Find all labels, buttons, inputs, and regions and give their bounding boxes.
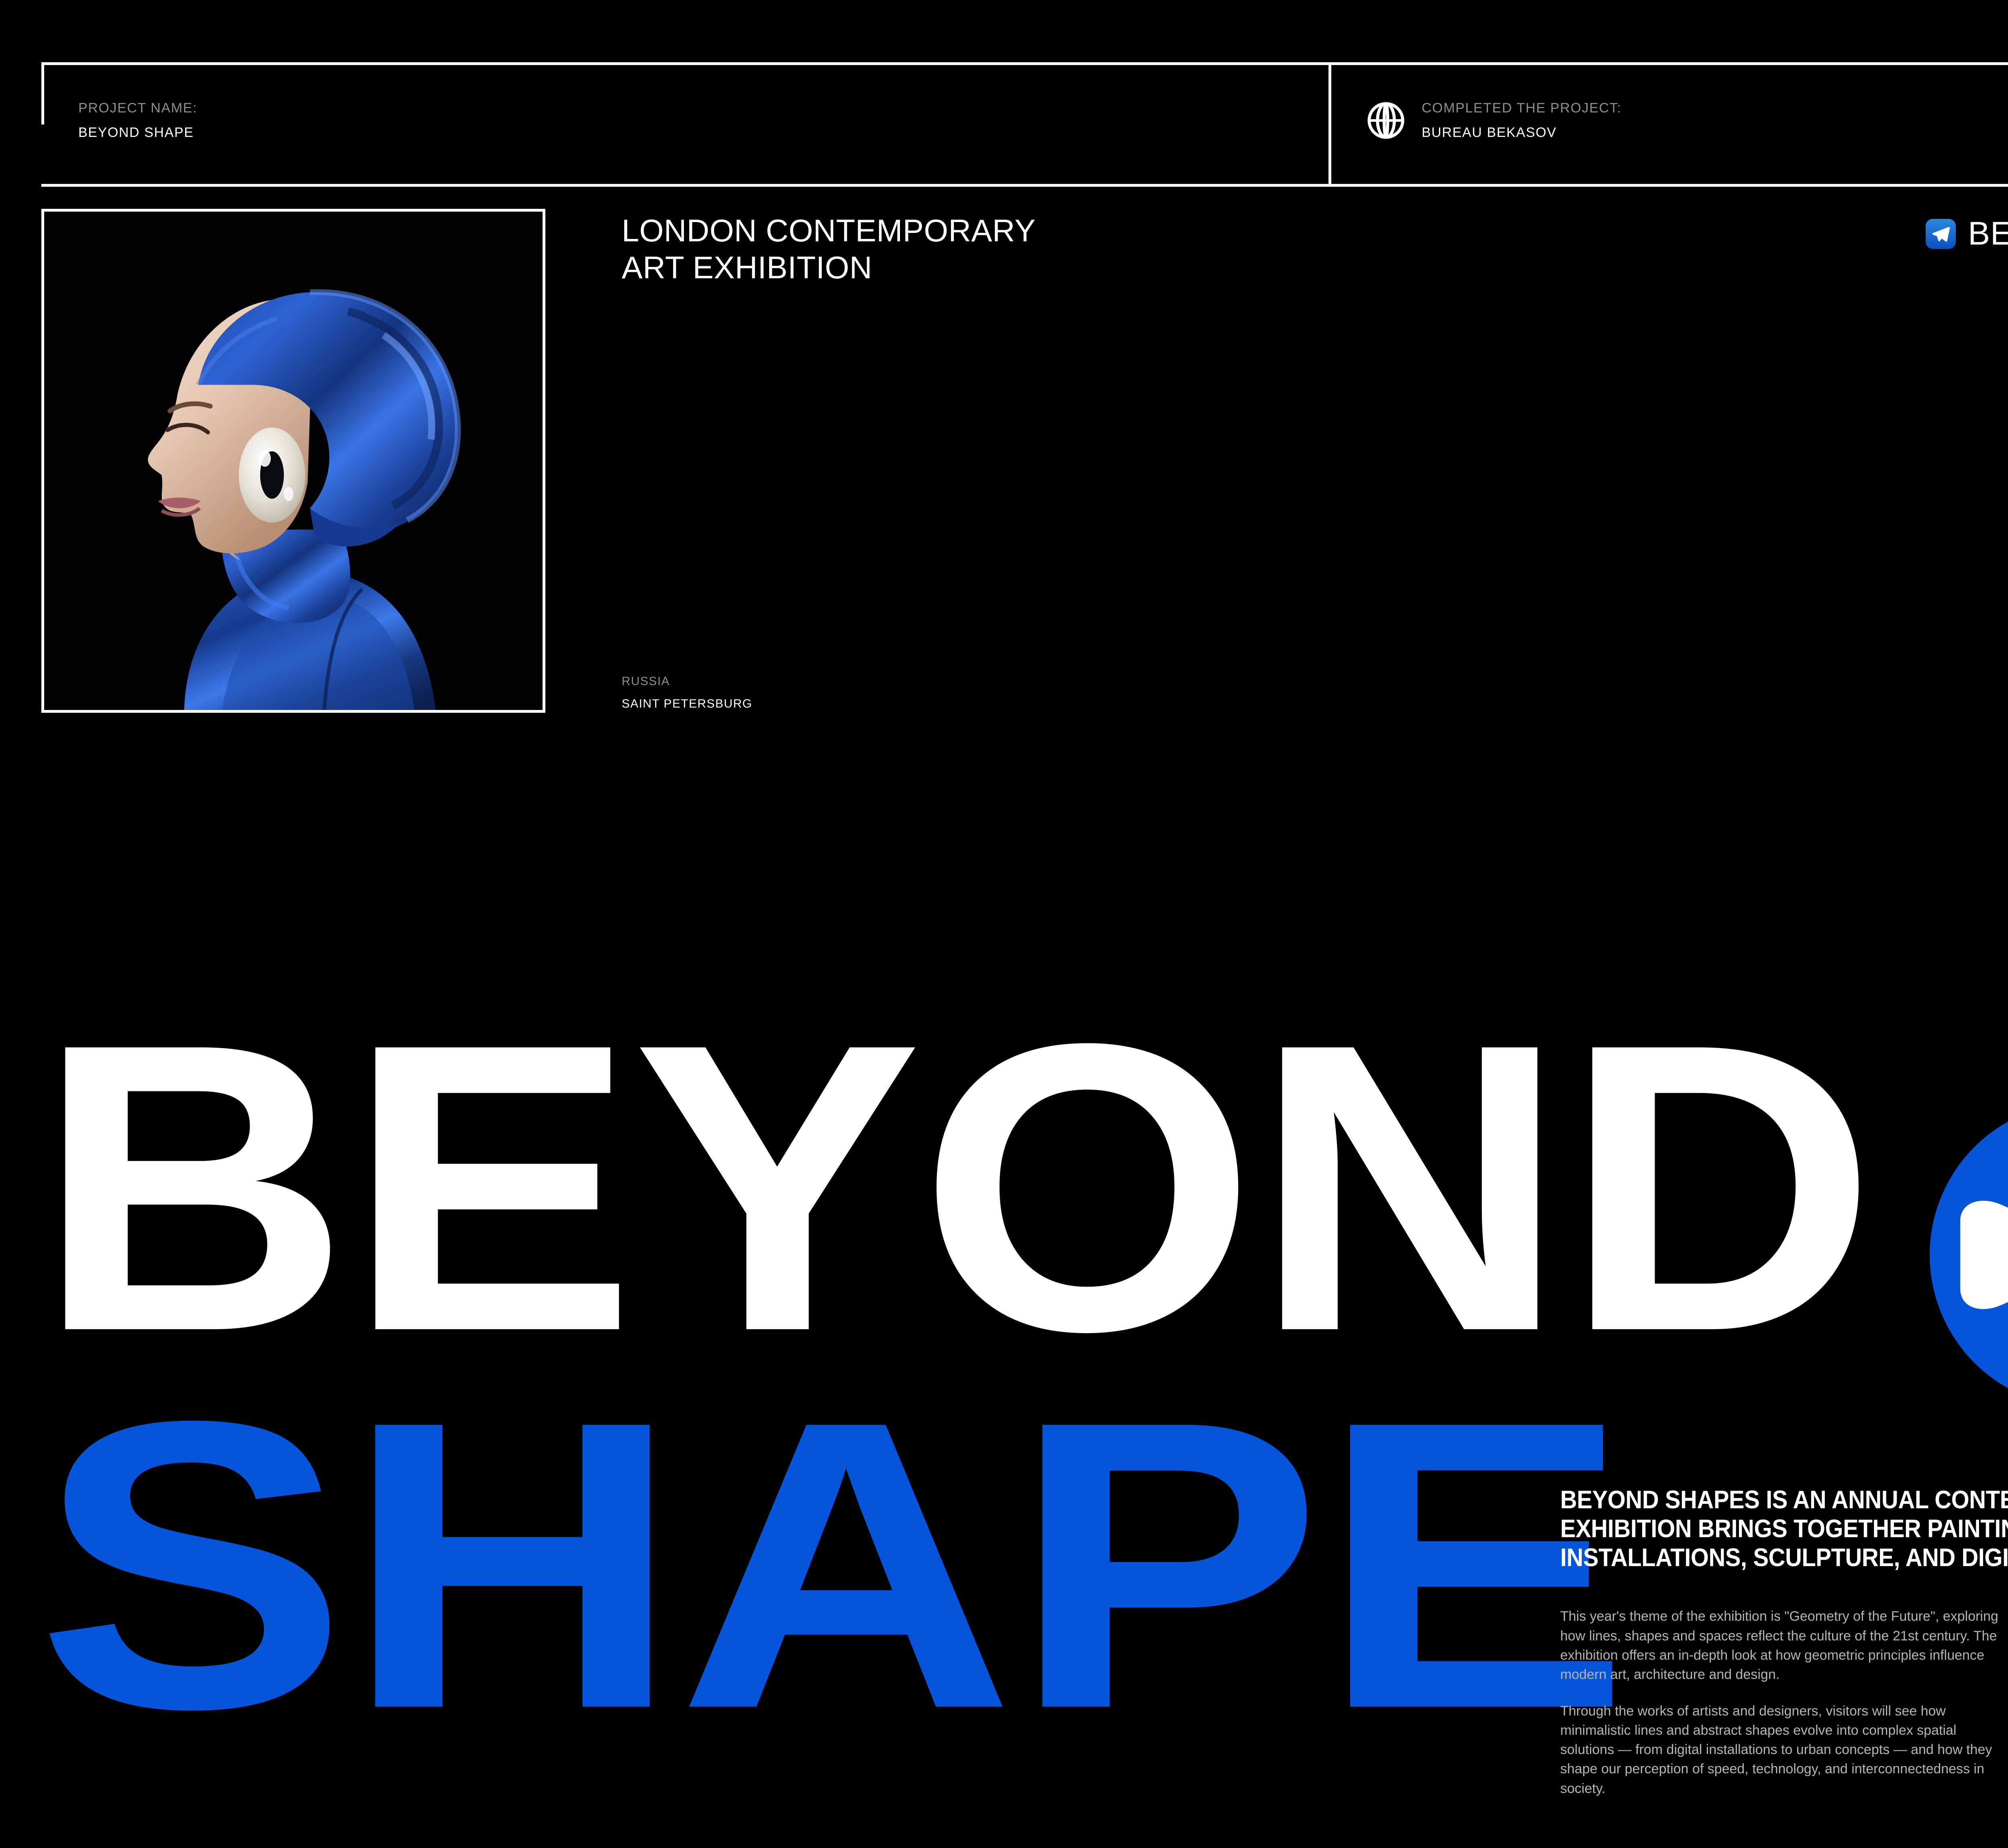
location-block: RUSSIA SAINT PETERSBURG [622, 675, 752, 711]
description-headline: BEYOND SHAPES IS AN ANNUAL CONTEMPORARY … [1560, 1486, 2008, 1572]
header-column-divider [1328, 62, 1331, 187]
exhibition-title-line-1: LONDON CONTEMPORARY [622, 212, 1036, 249]
location-country: RUSSIA [622, 675, 752, 688]
project-name-value: BEYOND SHAPE [78, 125, 197, 141]
description-block: BEYOND SHAPES IS AN ANNUAL CONTEMPORARY … [1560, 1486, 2008, 1798]
publication-date-value: OCTOBER 2K25 [1422, 125, 2008, 141]
header-bottom-rule [41, 184, 2008, 187]
telegram-handle-label[interactable]: BEKASOVMAX [1968, 215, 2008, 253]
description-paragraph-2: Through the works of artists and designe… [1560, 1701, 2008, 1798]
telegram-handle[interactable]: BEKASOVMAX [1926, 215, 2008, 253]
description-paragraph-1: This year's theme of the exhibition is "… [1560, 1607, 2008, 1684]
portrait-photo [44, 212, 543, 710]
globe-icon [1364, 98, 1408, 143]
bowtie-infinity-icon [1930, 1102, 2008, 1407]
portrait-photo-frame [41, 209, 545, 713]
location-city: SAINT PETERSBURG [622, 697, 752, 711]
brand-badge [1930, 1102, 2008, 1407]
display-word-beyond: BEYOND [36, 1028, 1873, 1348]
display-word-shape: SHAPE [36, 1405, 1627, 1725]
exhibition-title: LONDON CONTEMPORARY ART EXHIBITION [622, 212, 1036, 286]
meta-publication-date: DATE OF PUBLICATION: OCTOBER 2K25 [1422, 100, 2008, 141]
telegram-icon[interactable] [1926, 219, 1956, 249]
project-name-label: PROJECT NAME: [78, 100, 197, 116]
exhibition-title-line-2: ART EXHIBITION [622, 249, 1036, 286]
publication-date-label: DATE OF PUBLICATION: [1422, 100, 2008, 116]
meta-project-name: PROJECT NAME: BEYOND SHAPE [78, 100, 197, 141]
